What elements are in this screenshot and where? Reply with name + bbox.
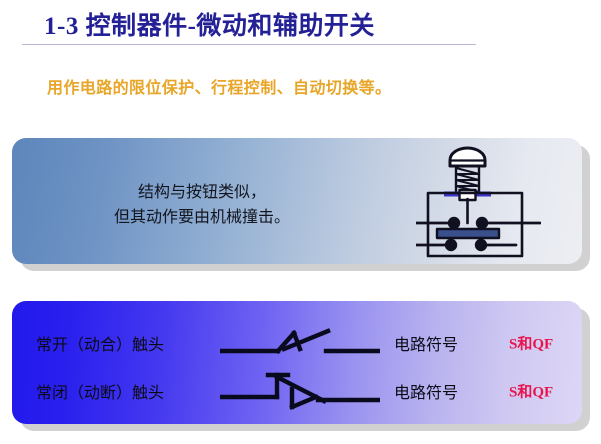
subtitle-text: 用作电路的限位保护、行程控制、自动切换等。 <box>47 74 391 98</box>
device-code-normally-open: S和QF <box>509 332 553 353</box>
normally-closed-contact-symbol <box>220 367 380 414</box>
slide-canvas: 1-3 控制器件-微动和辅助开关 用作电路的限位保护、行程控制、自动切换等。 结… <box>0 0 601 444</box>
contact-row-normally-closed: 常闭（动断）触头 <box>12 367 582 414</box>
structure-description-line-2: 但其动作要由机械撞击。 <box>52 205 352 230</box>
structure-panel: 结构与按钮类似， 但其动作要由机械撞击。 <box>12 138 582 264</box>
title-underline <box>22 44 476 45</box>
circuit-note-normally-open: 电路符号 <box>394 331 458 355</box>
contact-label-normally-closed: 常闭（动断）触头 <box>36 379 226 403</box>
contact-label-normally-open: 常开（动合）触头 <box>36 331 226 355</box>
normally-open-contact-symbol <box>220 319 380 366</box>
structure-description: 结构与按钮类似， 但其动作要由机械撞击。 <box>52 180 352 230</box>
circuit-note-normally-closed: 电路符号 <box>394 379 458 403</box>
title-block: 1-3 控制器件-微动和辅助开关 <box>0 4 601 48</box>
microswitch-cutaway-icon <box>416 143 541 261</box>
structure-description-line-1: 结构与按钮类似， <box>52 180 352 205</box>
symbols-panel: 常开（动合）触头 <box>12 301 582 424</box>
contact-row-normally-open: 常开（动合）触头 <box>12 319 582 366</box>
page-title: 1-3 控制器件-微动和辅助开关 <box>44 6 375 42</box>
device-code-normally-closed: S和QF <box>509 380 553 401</box>
